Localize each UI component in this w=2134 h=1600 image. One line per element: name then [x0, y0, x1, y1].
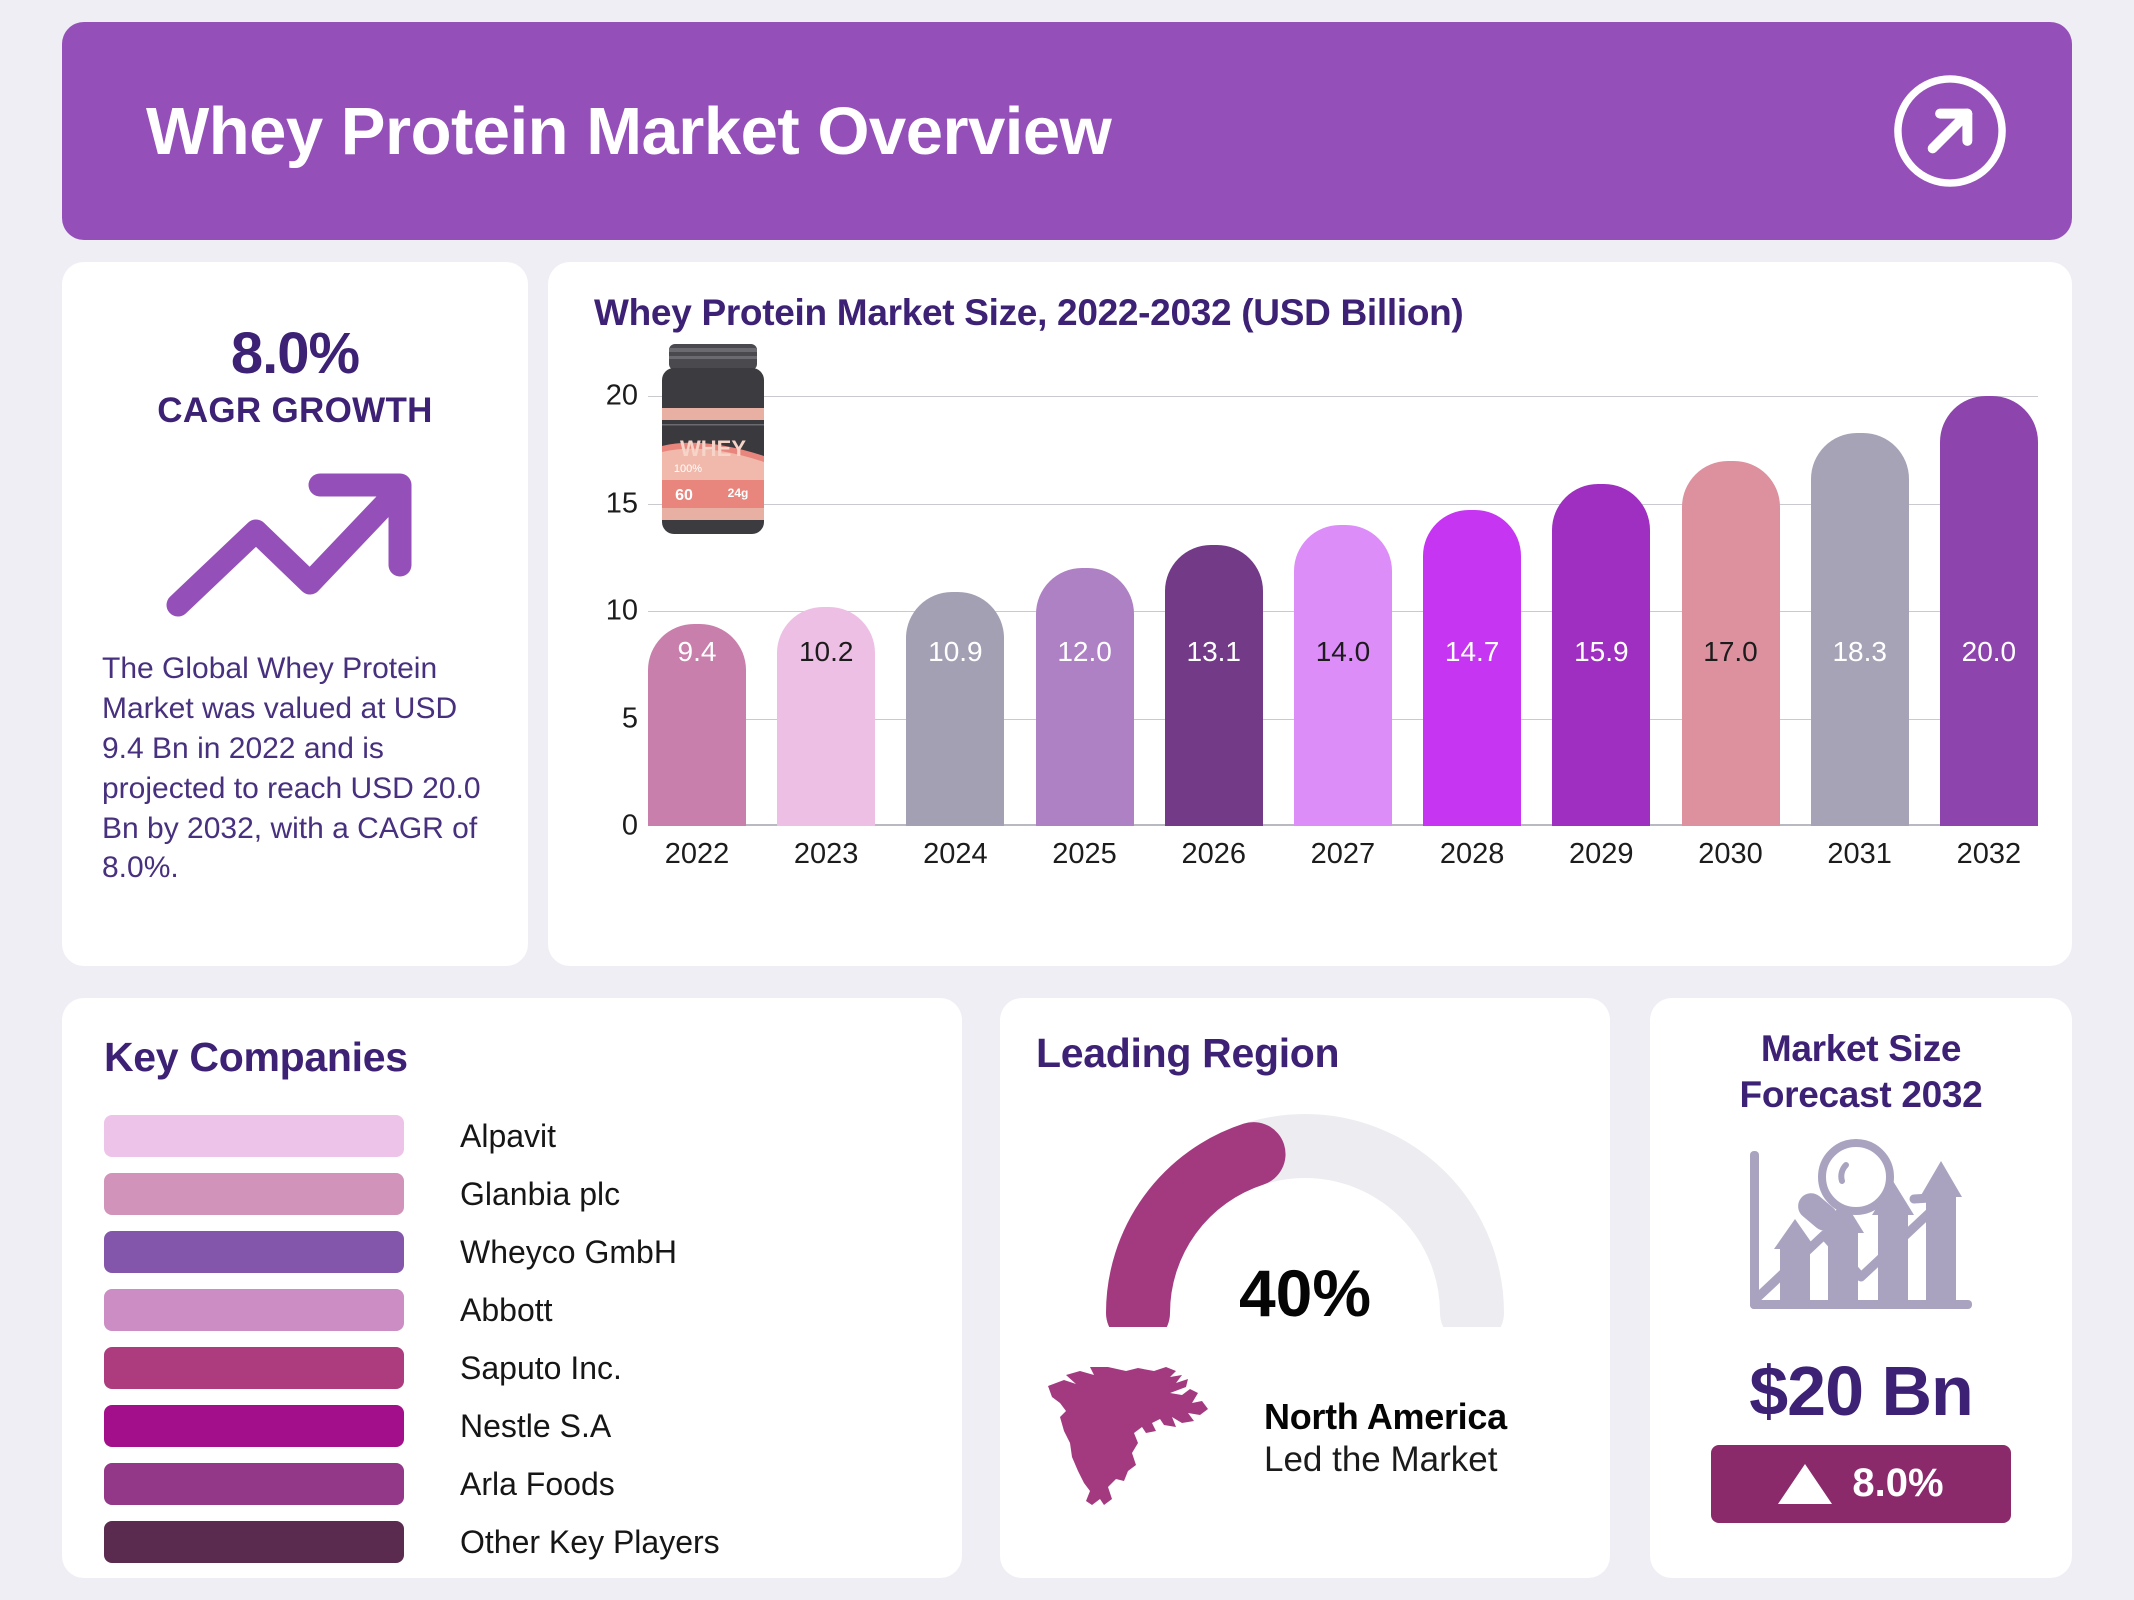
x-label-2029: 2029 [1552, 838, 1650, 871]
company-row[interactable]: Glanbia plc [104, 1165, 920, 1223]
company-color-swatch [104, 1231, 404, 1273]
company-color-swatch [104, 1289, 404, 1331]
company-name: Wheyco GmbH [460, 1234, 677, 1271]
bar-2027[interactable]: 14.0 [1294, 364, 1392, 826]
company-name: Alpavit [460, 1118, 556, 1155]
company-row[interactable]: Saputo Inc. [104, 1339, 920, 1397]
bar-value-label: 20.0 [1940, 636, 2038, 668]
market-size-forecast-card: Market Size Forecast 2032 [1650, 998, 2072, 1578]
bar-value-label: 14.7 [1423, 636, 1521, 668]
company-row[interactable]: Arla Foods [104, 1455, 920, 1513]
region-subtitle: Led the Market [1264, 1440, 1507, 1480]
bar-2029[interactable]: 15.9 [1552, 364, 1650, 826]
bar-2028[interactable]: 14.7 [1423, 364, 1521, 826]
company-color-swatch [104, 1173, 404, 1215]
forecast-value: $20 Bn [1674, 1351, 2048, 1431]
company-list: AlpavitGlanbia plcWheyco GmbHAbbottSaput… [104, 1107, 920, 1571]
y-tick-20: 20 [606, 380, 638, 413]
arrow-up-right-circle-icon[interactable] [1888, 69, 2012, 193]
bar-rect: 12.0 [1036, 568, 1134, 826]
forecast-icon-wrap [1674, 1137, 2048, 1337]
bar-value-label: 14.0 [1294, 636, 1392, 668]
company-color-swatch [104, 1463, 404, 1505]
company-name: Nestle S.A [460, 1408, 611, 1445]
x-label-2028: 2028 [1423, 838, 1521, 871]
region-name: North America [1264, 1396, 1507, 1438]
bar-2026[interactable]: 13.1 [1165, 364, 1263, 826]
key-companies-title: Key Companies [104, 1034, 920, 1081]
bar-2031[interactable]: 18.3 [1811, 364, 1909, 826]
bar-2032[interactable]: 20.0 [1940, 364, 2038, 826]
page-title: Whey Protein Market Overview [88, 93, 1111, 170]
bar-rect: 18.3 [1811, 433, 1909, 826]
bar-chart-plot: 05101520 9.410.210.912.013.114.014.715.9… [582, 364, 2038, 882]
x-label-2025: 2025 [1036, 838, 1134, 871]
svg-text:24g: 24g [728, 486, 749, 500]
bar-rect: 10.2 [777, 607, 875, 826]
x-label-2023: 2023 [777, 838, 875, 871]
cagr-card: 8.0% CAGR GROWTH The Global Whey Protein… [62, 262, 528, 966]
company-row[interactable]: Wheyco GmbH [104, 1223, 920, 1281]
company-row[interactable]: Abbott [104, 1281, 920, 1339]
page-header: Whey Protein Market Overview [62, 22, 2072, 240]
y-tick-5: 5 [622, 702, 638, 735]
bar-value-label: 15.9 [1552, 636, 1650, 668]
forecast-title-line1: Market Size [1674, 1026, 2048, 1072]
forecast-title: Market Size Forecast 2032 [1674, 1026, 2048, 1119]
bars-container: 9.410.210.912.013.114.014.715.917.018.32… [648, 364, 2038, 826]
key-companies-card: Key Companies AlpavitGlanbia plcWheyco G… [62, 998, 962, 1578]
x-label-2026: 2026 [1165, 838, 1263, 871]
y-axis: 05101520 [582, 364, 648, 826]
company-color-swatch [104, 1405, 404, 1447]
bar-rect: 13.1 [1165, 545, 1263, 826]
forecast-badge: 8.0% [1711, 1445, 2011, 1523]
bar-rect: 17.0 [1682, 461, 1780, 826]
x-label-2022: 2022 [648, 838, 746, 871]
up-triangle-icon [1778, 1464, 1832, 1504]
company-name: Saputo Inc. [460, 1350, 622, 1387]
bar-value-label: 17.0 [1682, 636, 1780, 668]
company-color-swatch [104, 1521, 404, 1563]
svg-text:WHEY: WHEY [680, 436, 746, 461]
x-axis-labels: 2022202320242025202620272028202920302031… [648, 838, 2038, 871]
company-row[interactable]: Nestle S.A [104, 1397, 920, 1455]
trending-up-arrow-icon [160, 457, 430, 617]
svg-text:100%: 100% [674, 463, 702, 475]
bar-value-label: 12.0 [1036, 636, 1134, 668]
y-tick-15: 15 [606, 487, 638, 520]
bar-rect: 15.9 [1552, 484, 1650, 826]
company-color-swatch [104, 1347, 404, 1389]
infographic-page: Whey Protein Market Overview 8.0% CAGR G… [0, 0, 2134, 1600]
x-label-2027: 2027 [1294, 838, 1392, 871]
forecast-badge-value: 8.0% [1852, 1461, 1943, 1506]
bar-2023[interactable]: 10.2 [777, 364, 875, 826]
bar-2024[interactable]: 10.9 [906, 364, 1004, 826]
y-tick-10: 10 [606, 595, 638, 628]
gauge-value: 40% [1036, 1255, 1574, 1331]
bar-2030[interactable]: 17.0 [1682, 364, 1780, 826]
bar-value-label: 18.3 [1811, 636, 1909, 668]
company-color-swatch [104, 1115, 404, 1157]
x-label-2031: 2031 [1811, 838, 1909, 871]
bar-value-label: 13.1 [1165, 636, 1263, 668]
forecast-title-line2: Forecast 2032 [1674, 1072, 2048, 1118]
north-america-map-icon [1042, 1353, 1242, 1523]
bar-rect: 14.0 [1294, 525, 1392, 826]
cagr-label: CAGR GROWTH [96, 391, 494, 431]
company-name: Abbott [460, 1292, 553, 1329]
bar-value-label: 10.2 [777, 636, 875, 668]
whey-protein-tub-image: WHEY 100% 60 24g [642, 340, 784, 536]
region-text-block: North America Led the Market [1264, 1396, 1507, 1480]
x-label-2032: 2032 [1940, 838, 2038, 871]
y-tick-0: 0 [622, 810, 638, 843]
growth-chart-magnifier-icon [1736, 1137, 1986, 1337]
bar-rect: 10.9 [906, 592, 1004, 826]
svg-text:60: 60 [675, 487, 693, 504]
market-size-chart-card: Whey Protein Market Size, 2022-2032 (USD… [548, 262, 2072, 966]
cagr-arrow-wrap [96, 457, 494, 617]
bar-2025[interactable]: 12.0 [1036, 364, 1134, 826]
region-gauge: 40% [1036, 1087, 1574, 1337]
chart-title: Whey Protein Market Size, 2022-2032 (USD… [582, 292, 2038, 334]
leading-region-card: Leading Region 40% North America Led the… [1000, 998, 1610, 1578]
bar-rect: 9.4 [648, 624, 746, 826]
company-name: Other Key Players [460, 1524, 720, 1561]
company-name: Glanbia plc [460, 1176, 620, 1213]
company-row[interactable]: Other Key Players [104, 1513, 920, 1571]
bar-value-label: 10.9 [906, 636, 1004, 668]
leading-region-title: Leading Region [1036, 1030, 1574, 1077]
cagr-description: The Global Whey Protein Market was value… [96, 649, 494, 888]
bar-rect: 20.0 [1940, 396, 2038, 826]
bar-rect: 14.7 [1423, 510, 1521, 826]
x-label-2024: 2024 [906, 838, 1004, 871]
bar-value-label: 9.4 [648, 636, 746, 668]
x-label-2030: 2030 [1682, 838, 1780, 871]
company-row[interactable]: Alpavit [104, 1107, 920, 1165]
region-footer: North America Led the Market [1036, 1353, 1574, 1523]
cagr-value: 8.0% [96, 320, 494, 387]
company-name: Arla Foods [460, 1466, 615, 1503]
